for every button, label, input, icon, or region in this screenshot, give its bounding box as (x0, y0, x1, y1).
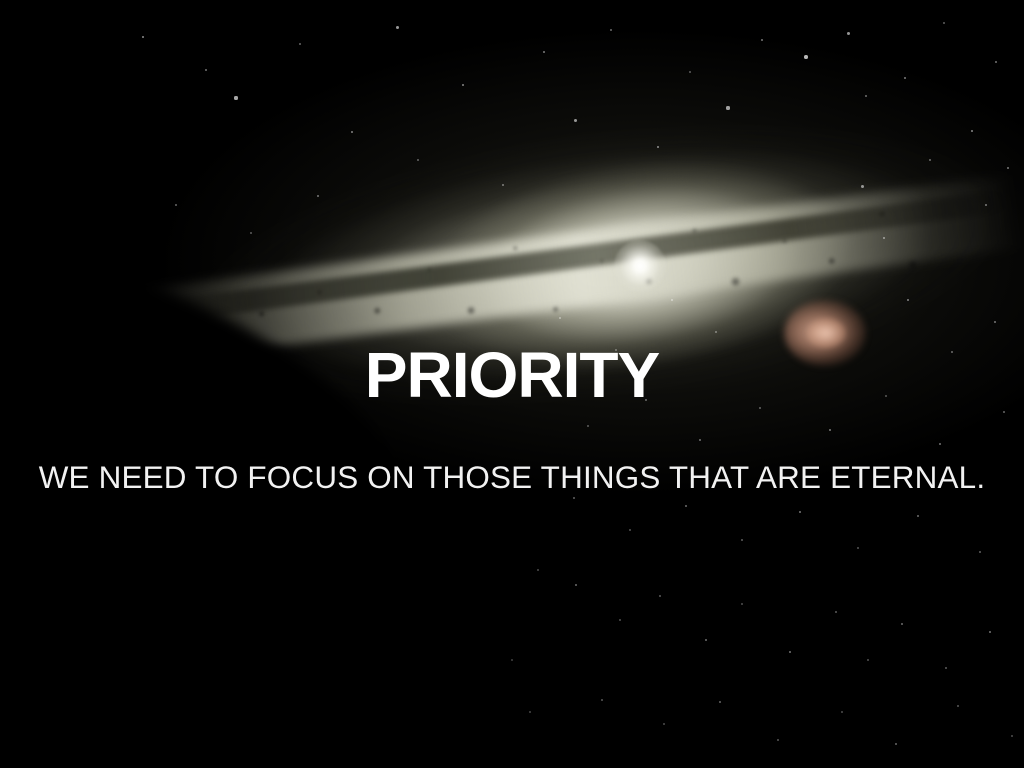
presentation-slide: PRIORITY WE NEED TO FOCUS ON THOSE THING… (0, 0, 1024, 768)
slide-subtitle: WE NEED TO FOCUS ON THOSE THINGS THAT AR… (0, 458, 1024, 498)
page-title: PRIORITY (0, 316, 1024, 434)
slide-text-block: PRIORITY WE NEED TO FOCUS ON THOSE THING… (0, 0, 1024, 768)
